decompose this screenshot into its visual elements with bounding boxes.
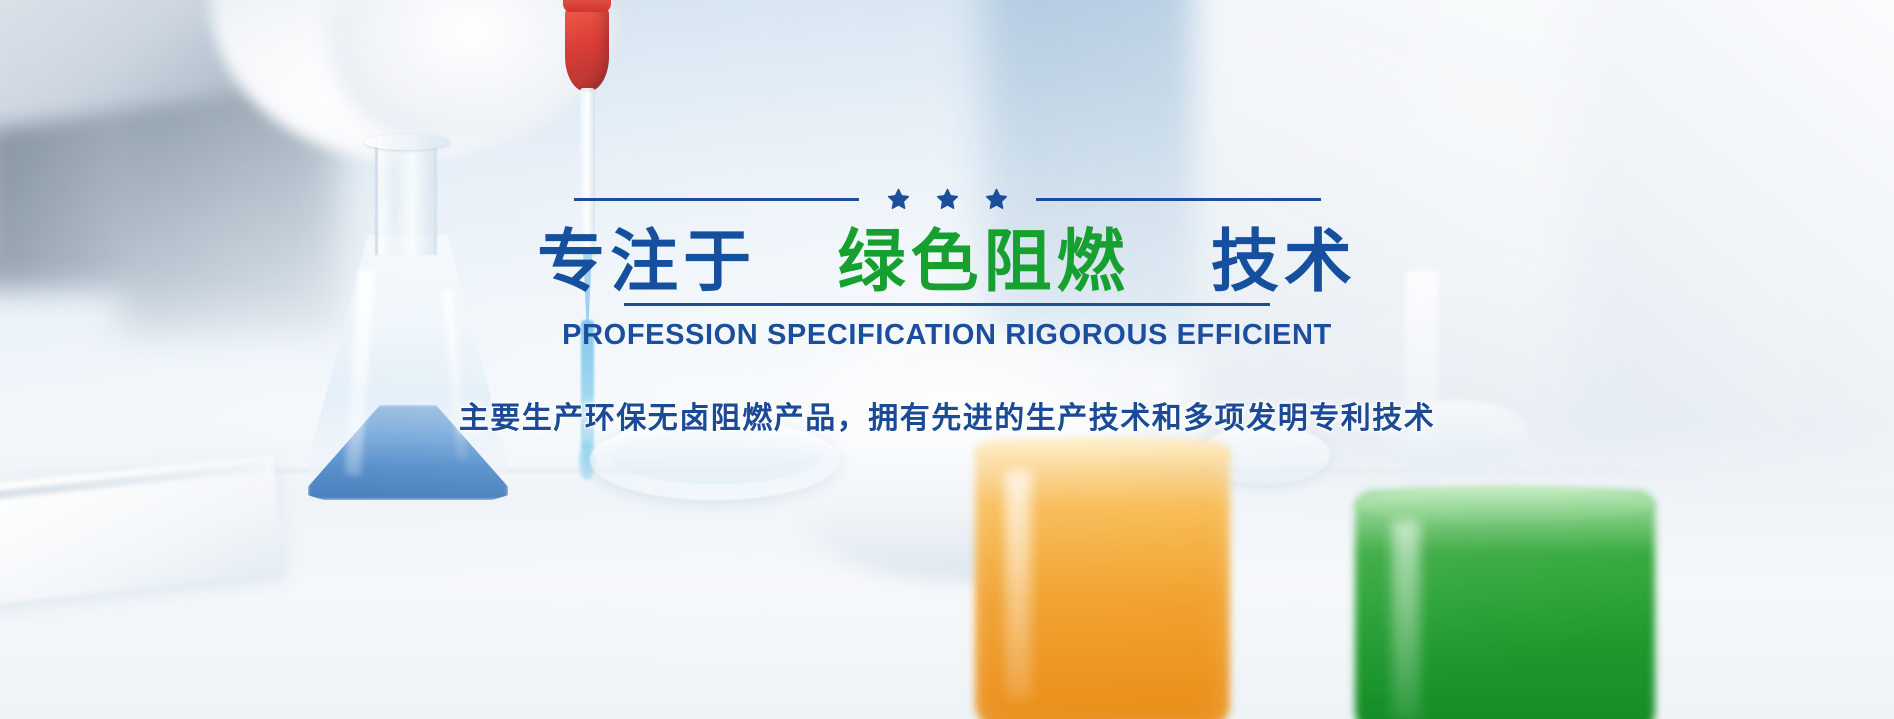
background-orange-beaker-rim — [975, 438, 1230, 472]
flask-lip — [364, 134, 450, 150]
background-petri-dish-inner — [612, 430, 820, 484]
pipette-bulb-top — [563, 0, 611, 12]
divider-line-right — [1036, 198, 1321, 201]
decorative-divider — [0, 188, 1894, 211]
star-icon — [985, 188, 1008, 211]
background-green-beaker-highlight — [1392, 520, 1420, 719]
title-part-focus: 专注于 — [537, 223, 756, 302]
banner-tagline: 主要生产环保无卤阻燃产品，拥有先进的生产技术和多项发明专利技术 — [459, 393, 1436, 437]
title-part-highlight: 绿色阻燃 — [837, 223, 1129, 302]
pipette-bulb — [565, 4, 609, 92]
divider-stars — [859, 188, 1036, 211]
star-icon — [936, 188, 959, 211]
title-part-tech: 技术 — [1211, 223, 1357, 302]
title-underline — [624, 303, 1270, 306]
banner-title: 专注于 绿色阻燃 技术 — [537, 227, 1357, 299]
banner-subtitle-english: PROFESSION SPECIFICATION RIGOROUS EFFICI… — [562, 319, 1332, 352]
star-icon — [887, 188, 910, 211]
divider-line-left — [574, 198, 859, 201]
background-green-beaker-rim — [1355, 486, 1655, 522]
banner-content: 专注于 绿色阻燃 技术 PROFESSION SPECIFICATION RIG… — [0, 188, 1894, 437]
hero-banner: 专注于 绿色阻燃 技术 PROFESSION SPECIFICATION RIG… — [0, 0, 1894, 719]
background-orange-beaker-highlight — [1005, 470, 1031, 700]
